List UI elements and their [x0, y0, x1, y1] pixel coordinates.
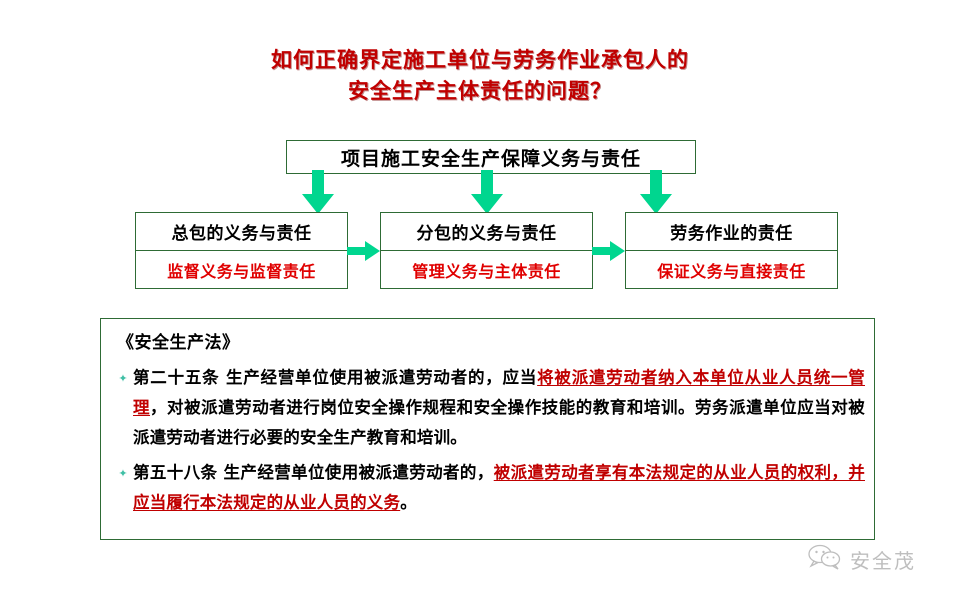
flow-node-1-subtitle: 监督义务与监督责任 [136, 251, 347, 288]
right-arrow-icon-2 [592, 239, 626, 263]
flow-node-3-title: 劳务作业的责任 [626, 213, 837, 250]
flow-node-top: 项目施工安全生产保障义务与责任 [286, 140, 696, 174]
law-item-1-text: 第二十五条 生产经营单位使用被派遣劳动者的，应当将被派遣劳动者纳入本单位从业人员… [133, 363, 865, 453]
flow-node-subcontractor: 分包的义务与责任 管理义务与主体责任 [380, 212, 593, 289]
down-arrow-icon-3 [638, 170, 674, 216]
flow-node-2-subtitle: 管理义务与主体责任 [381, 251, 592, 288]
down-arrow-icon-2 [469, 170, 505, 216]
law-citation-box: 《安全生产法》 ✦ 第二十五条 生产经营单位使用被派遣劳动者的，应当将被派遣劳动… [100, 318, 875, 540]
flow-node-labor-service: 劳务作业的责任 保证义务与直接责任 [625, 212, 838, 289]
wechat-icon [808, 544, 842, 574]
bullet-icon-1: ✦ [113, 363, 133, 385]
watermark: 安全茂 [808, 544, 916, 574]
flow-chart: 项目施工安全生产保障义务与责任 总包的义务与责任 监督义务与监督责任 分包的义务… [0, 0, 960, 300]
watermark-label: 安全茂 [850, 545, 916, 574]
flow-node-general-contractor: 总包的义务与责任 监督义务与监督责任 [135, 212, 348, 289]
law-heading: 《安全生产法》 [117, 328, 240, 353]
flow-node-2-title: 分包的义务与责任 [381, 213, 592, 250]
flow-node-1-title: 总包的义务与责任 [136, 213, 347, 250]
law-item-2-text: 第五十八条 生产经营单位使用被派遣劳动者的，被派遣劳动者享有本法规定的从业人员的… [133, 458, 865, 518]
bullet-icon-2: ✦ [113, 458, 133, 480]
right-arrow-icon-1 [347, 239, 381, 263]
law-list-item-1: ✦ 第二十五条 生产经营单位使用被派遣劳动者的，应当将被派遣劳动者纳入本单位从业… [113, 363, 865, 453]
flow-node-top-label: 项目施工安全生产保障义务与责任 [287, 141, 695, 173]
law-list-item-2: ✦ 第五十八条 生产经营单位使用被派遣劳动者的，被派遣劳动者享有本法规定的从业人… [113, 458, 865, 518]
flow-node-3-subtitle: 保证义务与直接责任 [626, 251, 837, 288]
down-arrow-icon-1 [300, 170, 336, 216]
